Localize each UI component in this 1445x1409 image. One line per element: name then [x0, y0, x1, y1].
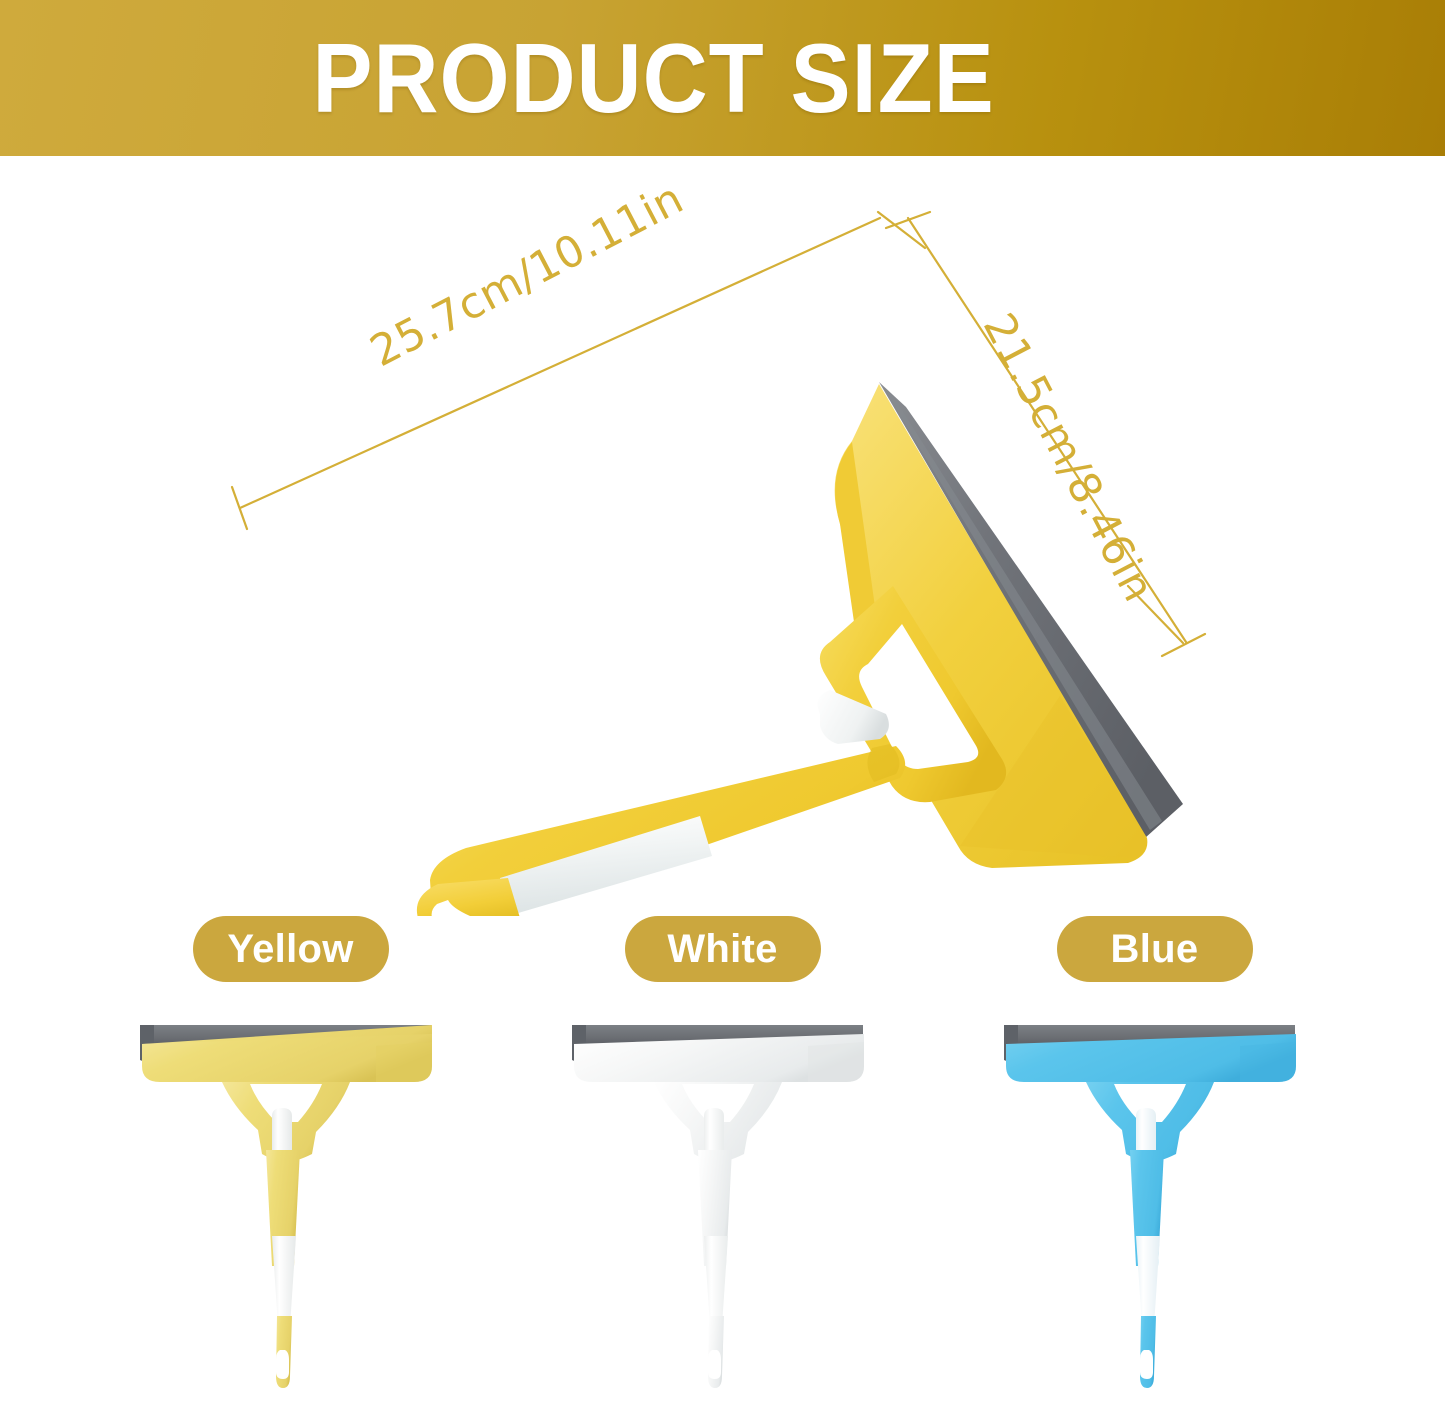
variant-figure-yellow — [126, 1004, 456, 1394]
variant-badge-yellow: Yellow — [193, 916, 389, 982]
hang-hole — [708, 1350, 721, 1379]
variant-figure-white — [558, 1004, 888, 1394]
dimension-tick-left — [232, 487, 247, 529]
grip — [704, 1236, 728, 1326]
grip — [272, 1236, 296, 1326]
variant-blue[interactable]: Blue — [939, 916, 1371, 1394]
nub — [272, 1108, 292, 1150]
hang-hole — [1140, 1350, 1153, 1379]
color-variants-row: Yellow — [0, 916, 1445, 1409]
variant-figure-blue — [990, 1004, 1320, 1394]
nub — [1136, 1108, 1156, 1150]
product-size-infographic: PRODUCT SIZE — [0, 0, 1445, 1409]
header-banner: PRODUCT SIZE — [0, 0, 1445, 156]
head-shade — [376, 1042, 432, 1082]
hero-product-illustration — [0, 156, 1445, 916]
hang-hole — [276, 1350, 289, 1379]
grip — [1136, 1236, 1160, 1326]
squeegee-yellow — [140, 1025, 432, 1388]
squeegee-white — [572, 1025, 864, 1388]
variant-yellow[interactable]: Yellow — [75, 916, 507, 1394]
squeegee-blue — [1004, 1025, 1296, 1388]
variant-white[interactable]: White — [507, 916, 939, 1394]
variant-badge-blue: Blue — [1057, 916, 1253, 982]
hero-product-section: 25.7cm/10.11in 21.5cm/8.46in — [0, 156, 1445, 916]
dimension-tick-top — [886, 212, 930, 228]
page-title: PRODUCT SIZE — [58, 0, 1387, 156]
head-shade — [1240, 1042, 1296, 1082]
variant-badge-white: White — [625, 916, 821, 982]
nub — [704, 1108, 724, 1150]
head-shade — [808, 1042, 864, 1082]
